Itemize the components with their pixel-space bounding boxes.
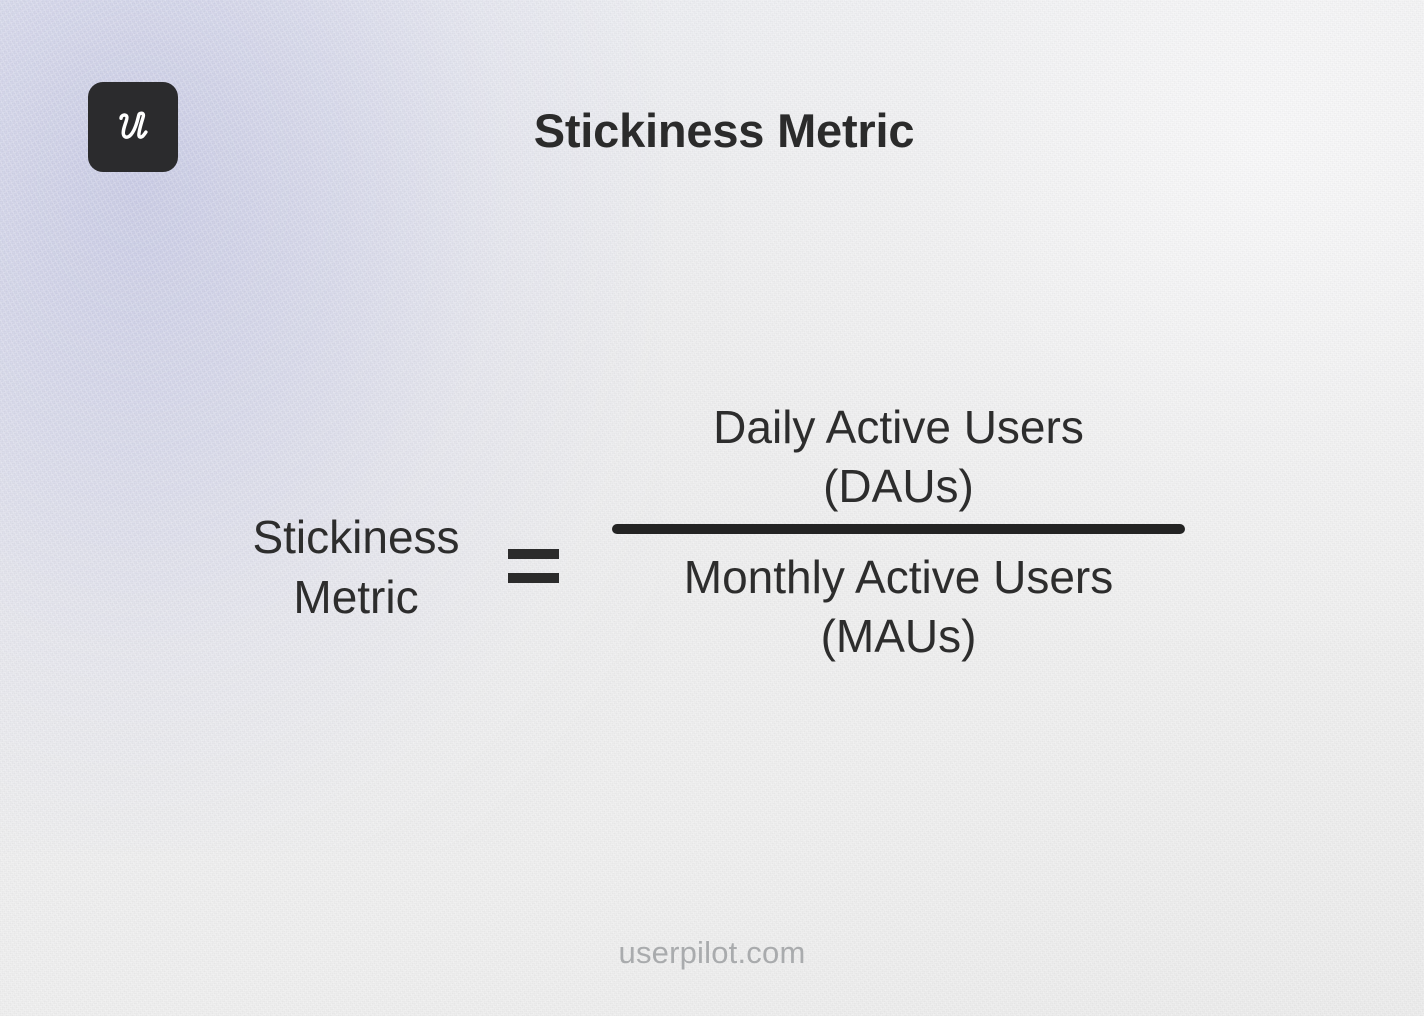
page-title: Stickiness Metric — [0, 103, 1424, 159]
equals-bar-bottom — [508, 573, 559, 583]
footer-website-label: userpilot.com — [0, 935, 1424, 971]
fraction: Daily Active Users (DAUs) Monthly Active… — [612, 398, 1185, 666]
fraction-denominator-line2: (MAUs) — [612, 607, 1185, 666]
fraction-divider-bar — [612, 524, 1185, 534]
fraction-numerator-line2: (DAUs) — [612, 457, 1185, 516]
fraction-denominator-line1: Monthly Active Users — [612, 548, 1185, 607]
equals-bar-top — [508, 549, 559, 559]
formula-block: Stickiness Metric Daily Active Users (DA… — [0, 398, 1424, 728]
formula-left-label: Stickiness Metric — [206, 508, 506, 628]
fraction-numerator: Daily Active Users (DAUs) — [612, 398, 1185, 524]
fraction-numerator-line1: Daily Active Users — [612, 398, 1185, 457]
infographic-canvas: Stickiness Metric Stickiness Metric Dail… — [0, 0, 1424, 1016]
formula-left-label-line2: Metric — [206, 568, 506, 628]
formula-left-label-line1: Stickiness — [206, 508, 506, 568]
equals-sign-icon — [508, 549, 559, 583]
fraction-denominator: Monthly Active Users (MAUs) — [612, 534, 1185, 666]
